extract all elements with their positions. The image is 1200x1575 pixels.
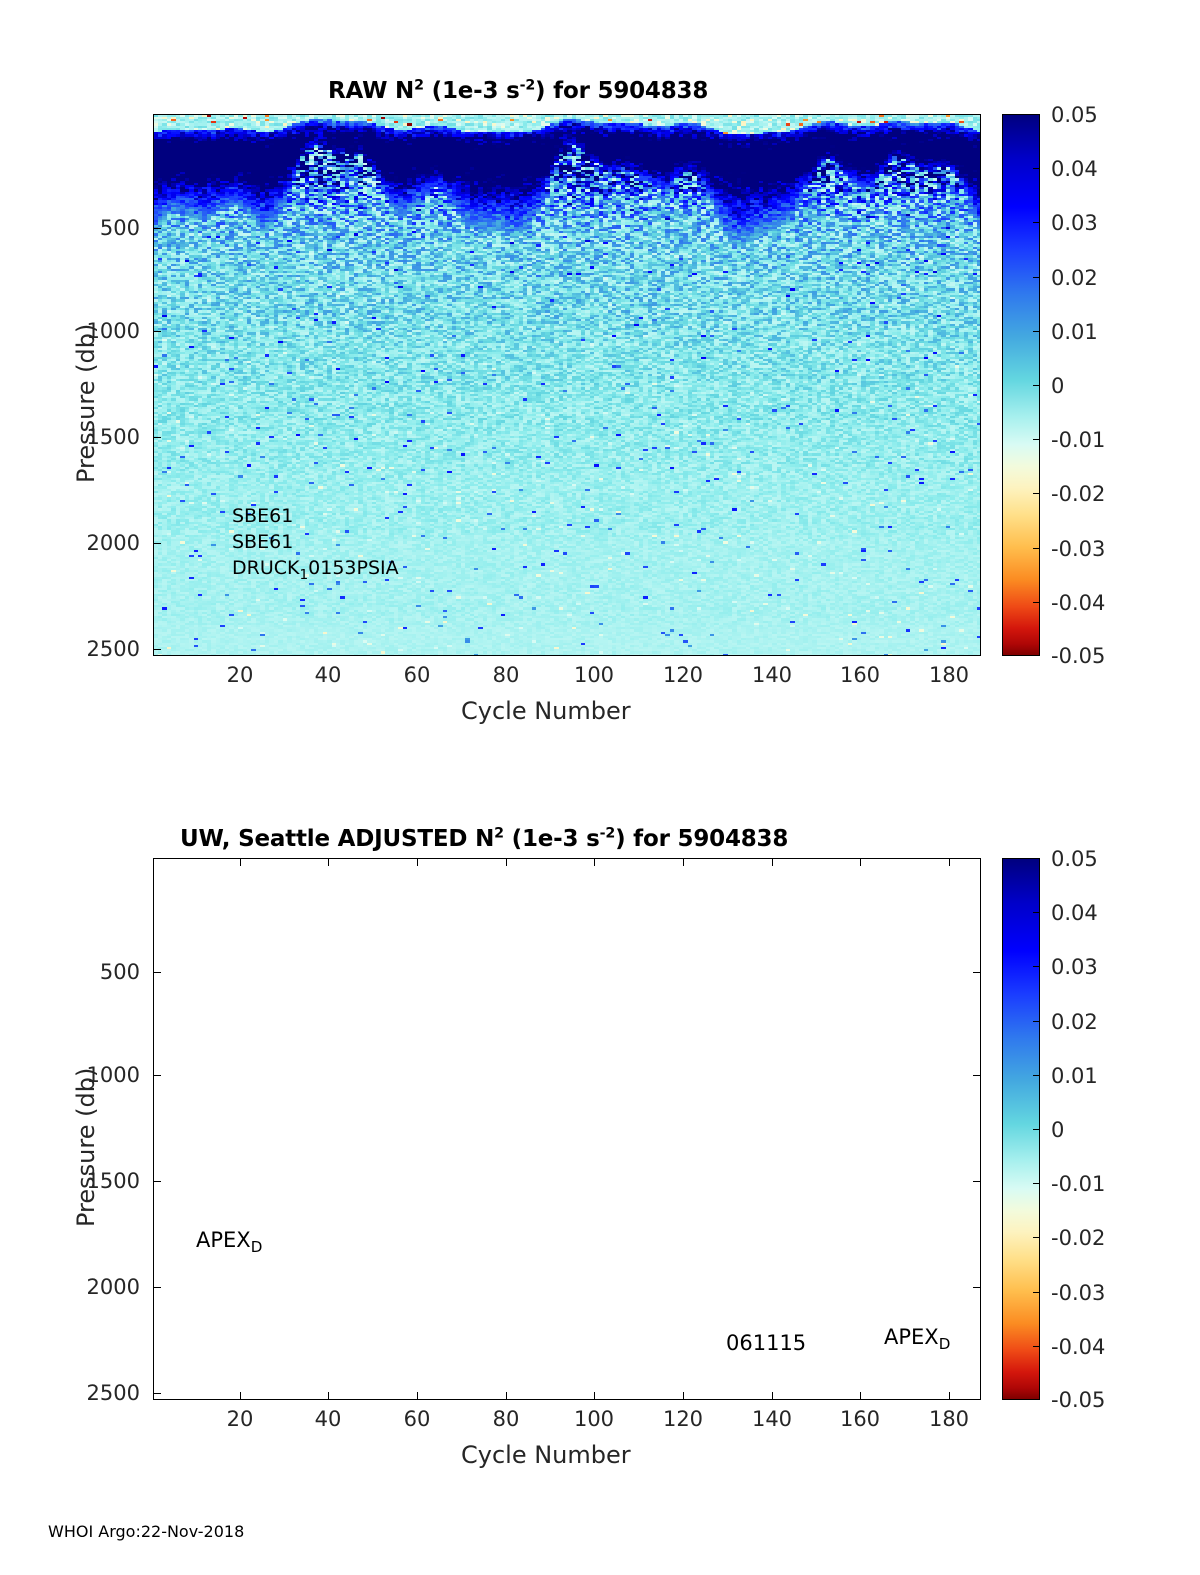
adj-title-suffix: ) for 5904838 (615, 826, 788, 852)
title-suffix: ) for 5904838 (535, 78, 708, 104)
raw-cbar-tick-1 (1033, 168, 1040, 169)
raw-xaxis-label: Cycle Number (461, 697, 631, 725)
adj-cbar-label-5: 0 (1051, 1118, 1064, 1142)
adj-cbar-tick-6 (1033, 1183, 1040, 1184)
adj-xtick-140 (772, 1392, 773, 1400)
adj-cbar-label-4: 0.01 (1051, 1064, 1098, 1088)
adj-ytick-label-2000: 2000 (40, 1275, 140, 1299)
adj-xtick-label-20: 20 (205, 1407, 275, 1431)
adj-annotation-apex-right: APEXD (884, 1325, 950, 1349)
adj-xtick-top-80 (506, 858, 507, 866)
adj-xtick-20 (240, 1392, 241, 1400)
adj-ytick-right-500 (973, 972, 981, 973)
raw-xtick-label-80: 80 (471, 663, 541, 687)
adj-cbar-label-8: -0.03 (1051, 1281, 1105, 1305)
raw-annotation-0: SBE61 (232, 505, 293, 527)
adj-xtick-top-60 (417, 858, 418, 866)
raw-cbar-label-8: -0.03 (1051, 537, 1105, 561)
raw-cbar-tick-6 (1033, 439, 1040, 440)
raw-cbar-label-9: -0.04 (1051, 591, 1105, 615)
raw-cbar-label-10: -0.05 (1051, 644, 1105, 668)
raw-ytick-2500 (153, 649, 161, 650)
figure-footer: WHOI Argo:22-Nov-2018 (48, 1522, 244, 1541)
raw-ytick-1000 (153, 331, 161, 332)
adj-cbar-tick-10 (1033, 1399, 1040, 1400)
adj-ytick-500 (153, 972, 161, 973)
adj-annotation-date-text: 061115 (726, 1331, 806, 1355)
raw-cbar-tick-2 (1033, 222, 1040, 223)
adj-cbar-tick-0 (1033, 858, 1040, 859)
adj-ytick-label-500: 500 (40, 960, 140, 984)
panel-raw-title: RAW N2 (1e-3 s-2) for 5904838 (328, 78, 708, 104)
raw-annotation-2-sub: 1 (299, 567, 308, 583)
adj-ytick-right-2000 (973, 1287, 981, 1288)
raw-annotation-1: SBE61 (232, 531, 293, 553)
raw-cbar-tick-3 (1033, 277, 1040, 278)
adj-title-superscript-2: 2 (494, 825, 504, 841)
adj-ytick-1000 (153, 1075, 161, 1076)
adj-cbar-tick-2 (1033, 966, 1040, 967)
raw-xtick-label-100: 100 (559, 663, 629, 687)
adj-xtick-label-180: 180 (914, 1407, 984, 1431)
raw-cbar-tick-7 (1033, 493, 1040, 494)
adj-cbar-label-1: 0.04 (1051, 901, 1098, 925)
title-mid: (1e-3 s (424, 78, 520, 104)
raw-ytick-2000 (153, 543, 161, 544)
adj-cbar-label-7: -0.02 (1051, 1226, 1105, 1250)
adj-cbar-tick-7 (1033, 1237, 1040, 1238)
adj-ytick-right-1000 (973, 1075, 981, 1076)
adj-cbar-tick-9 (1033, 1346, 1040, 1347)
title-prefix: RAW N (328, 78, 414, 104)
adj-xtick-160 (860, 1392, 861, 1400)
adj-xtick-top-180 (949, 858, 950, 866)
raw-ytick-label-2000: 2000 (40, 531, 140, 555)
adj-xtick-label-160: 160 (825, 1407, 895, 1431)
adj-cbar-label-0: 0.05 (1051, 847, 1098, 871)
adj-annotation-apex-right-text: APEX (884, 1325, 939, 1349)
raw-cbar-tick-8 (1033, 548, 1040, 549)
raw-cbar-label-4: 0.01 (1051, 320, 1098, 344)
raw-xtick-label-140: 140 (737, 663, 807, 687)
title-superscript-2: 2 (414, 77, 424, 93)
adj-xtick-top-120 (683, 858, 684, 866)
adj-cbar-tick-3 (1033, 1021, 1040, 1022)
adj-title-mid: (1e-3 s (504, 826, 600, 852)
raw-xtick-label-180: 180 (914, 663, 984, 687)
adj-title-prefix: UW, Seattle ADJUSTED N (180, 826, 494, 852)
raw-ytick-label-2500: 2500 (40, 637, 140, 661)
raw-annotation-2-tail: 0153PSIA (308, 557, 398, 579)
adj-cbar-label-2: 0.03 (1051, 955, 1098, 979)
raw-cbar-tick-9 (1033, 602, 1040, 603)
adj-ytick-right-1500 (973, 1181, 981, 1182)
adj-xtick-top-160 (860, 858, 861, 866)
adj-xtick-top-140 (772, 858, 773, 866)
adjusted-axes-box (153, 858, 981, 1400)
adj-annotation-apex-left-text: APEX (196, 1228, 251, 1252)
adj-ytick-2000 (153, 1287, 161, 1288)
raw-annotation-0-text: SBE61 (232, 505, 293, 527)
raw-cbar-label-6: -0.01 (1051, 428, 1105, 452)
adj-xtick-80 (506, 1392, 507, 1400)
raw-ytick-1500 (153, 437, 161, 438)
raw-xtick-label-20: 20 (205, 663, 275, 687)
adj-cbar-label-10: -0.05 (1051, 1388, 1105, 1412)
adj-xtick-top-100 (594, 858, 595, 866)
title-superscript-neg2: -2 (520, 77, 535, 93)
raw-xtick-label-120: 120 (648, 663, 718, 687)
raw-annotation-2-text: DRUCK (232, 557, 299, 579)
adj-xtick-top-40 (328, 858, 329, 866)
adj-xtick-label-60: 60 (382, 1407, 452, 1431)
raw-cbar-label-1: 0.04 (1051, 157, 1098, 181)
raw-cbar-label-0: 0.05 (1051, 103, 1098, 127)
adj-annotation-apex-left: APEXD (196, 1228, 262, 1252)
adj-ytick-label-2500: 2500 (40, 1381, 140, 1405)
raw-ytick-label-500: 500 (40, 216, 140, 240)
raw-cbar-label-3: 0.02 (1051, 266, 1098, 290)
raw-xtick-label-40: 40 (293, 663, 363, 687)
adj-cbar-tick-5 (1033, 1129, 1040, 1130)
adj-yaxis-label: Pressure (db) (72, 1068, 100, 1227)
adj-xtick-100 (594, 1392, 595, 1400)
adj-ytick-2500 (153, 1393, 161, 1394)
raw-xtick-label-160: 160 (825, 663, 895, 687)
adj-cbar-tick-4 (1033, 1075, 1040, 1076)
raw-annotation-1-text: SBE61 (232, 531, 293, 553)
raw-ytick-500 (153, 228, 161, 229)
raw-cbar-label-7: -0.02 (1051, 482, 1105, 506)
raw-cbar-tick-5 (1033, 385, 1040, 386)
adj-cbar-label-6: -0.01 (1051, 1172, 1105, 1196)
adj-xtick-top-20 (240, 858, 241, 866)
adj-cbar-label-3: 0.02 (1051, 1010, 1098, 1034)
adj-xtick-60 (417, 1392, 418, 1400)
raw-cbar-tick-4 (1033, 331, 1040, 332)
adj-annotation-apex-right-sub: D (939, 1335, 951, 1353)
adj-xtick-40 (328, 1392, 329, 1400)
adj-cbar-tick-1 (1033, 912, 1040, 913)
raw-xtick-label-60: 60 (382, 663, 452, 687)
adj-annotation-apex-left-sub: D (251, 1238, 263, 1256)
adj-xtick-label-140: 140 (737, 1407, 807, 1431)
adj-xtick-label-100: 100 (559, 1407, 629, 1431)
adj-xtick-label-40: 40 (293, 1407, 363, 1431)
raw-cbar-label-5: 0 (1051, 374, 1064, 398)
raw-cbar-label-2: 0.03 (1051, 211, 1098, 235)
raw-annotation-2: DRUCK10153PSIA (232, 557, 399, 579)
adj-cbar-tick-8 (1033, 1292, 1040, 1293)
adj-xtick-label-80: 80 (471, 1407, 541, 1431)
adj-xtick-180 (949, 1392, 950, 1400)
adj-xtick-120 (683, 1392, 684, 1400)
panel-adjusted-title: UW, Seattle ADJUSTED N2 (1e-3 s-2) for 5… (180, 826, 788, 852)
adj-cbar-label-9: -0.04 (1051, 1335, 1105, 1359)
adj-title-superscript-neg2: -2 (600, 825, 615, 841)
adj-ytick-1500 (153, 1181, 161, 1182)
adj-annotation-date: 061115 (726, 1331, 806, 1355)
adj-xaxis-label: Cycle Number (461, 1441, 631, 1469)
raw-yaxis-label: Pressure (db) (72, 324, 100, 483)
raw-cbar-tick-0 (1033, 114, 1040, 115)
adj-xtick-label-120: 120 (648, 1407, 718, 1431)
raw-cbar-tick-10 (1033, 655, 1040, 656)
